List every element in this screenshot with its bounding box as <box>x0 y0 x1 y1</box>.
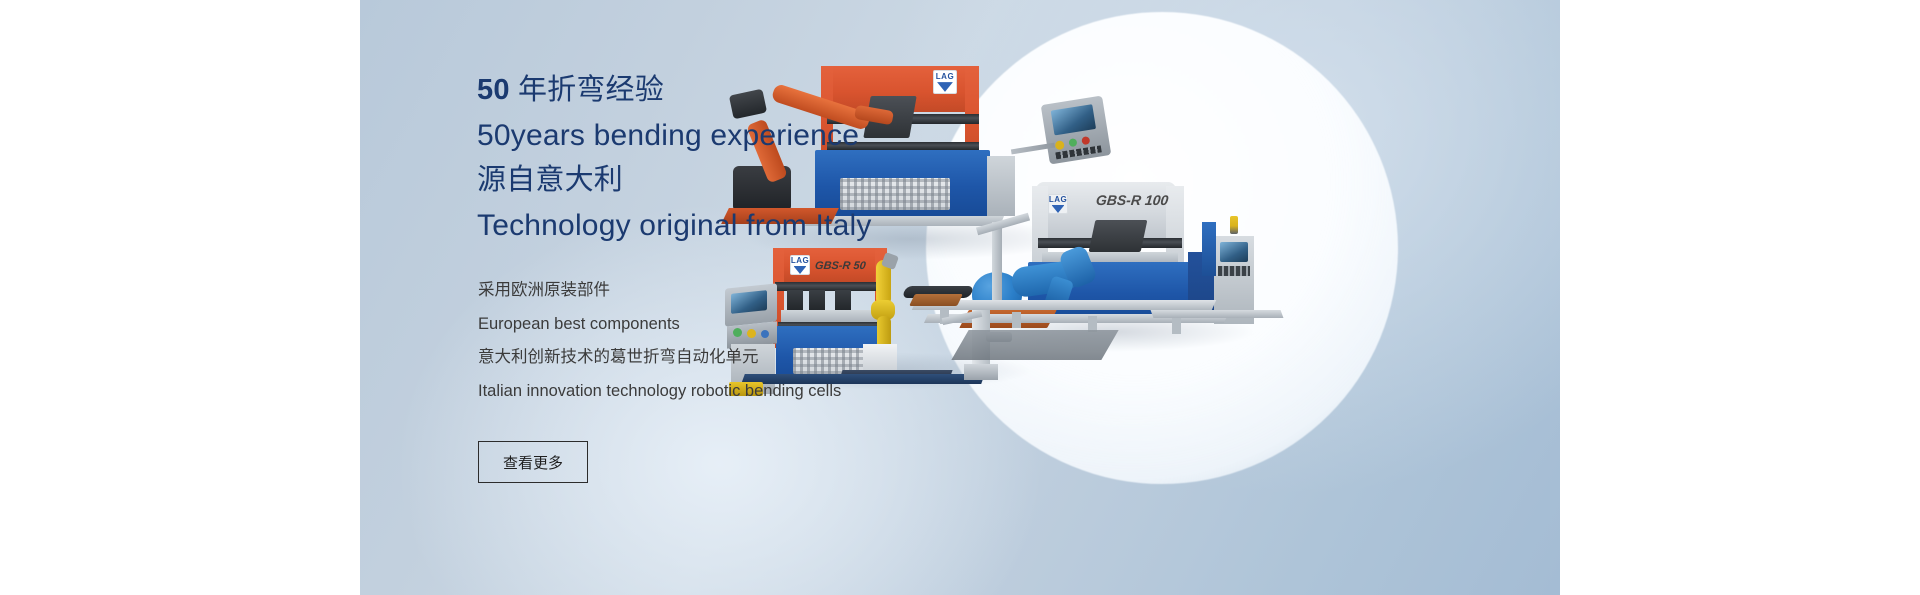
headline-line-2: 50years bending experience <box>477 113 947 158</box>
headline-block: 50 年折弯经验 50years bending experience 源自意大… <box>477 68 947 248</box>
subcopy-line-3: 意大利创新技术的葛世折弯自动化单元 <box>478 341 958 375</box>
subcopy-line-4: Italian innovation technology robotic be… <box>478 375 958 409</box>
headline-line-1-rest: 年折弯经验 <box>518 74 664 106</box>
headline-number: 50 <box>477 74 510 106</box>
hero-banner: LAG <box>360 0 1560 595</box>
headline-line-1: 50 年折弯经验 <box>477 68 947 113</box>
view-more-button[interactable]: 查看更多 <box>478 441 588 483</box>
banner-page: LAG <box>0 0 1920 595</box>
headline-line-3: 源自意大利 <box>477 158 947 203</box>
subcopy-line-1: 采用欧洲原装部件 <box>478 274 958 308</box>
subcopy-line-2: European best components <box>478 308 958 342</box>
headline-line-4: Technology original from Italy <box>477 203 947 248</box>
hero-backdrop-circle <box>926 12 1398 484</box>
subcopy-block: 采用欧洲原装部件 European best components 意大利创新技… <box>478 274 958 408</box>
banner-copy: 50 年折弯经验 50years bending experience 源自意大… <box>477 0 957 595</box>
